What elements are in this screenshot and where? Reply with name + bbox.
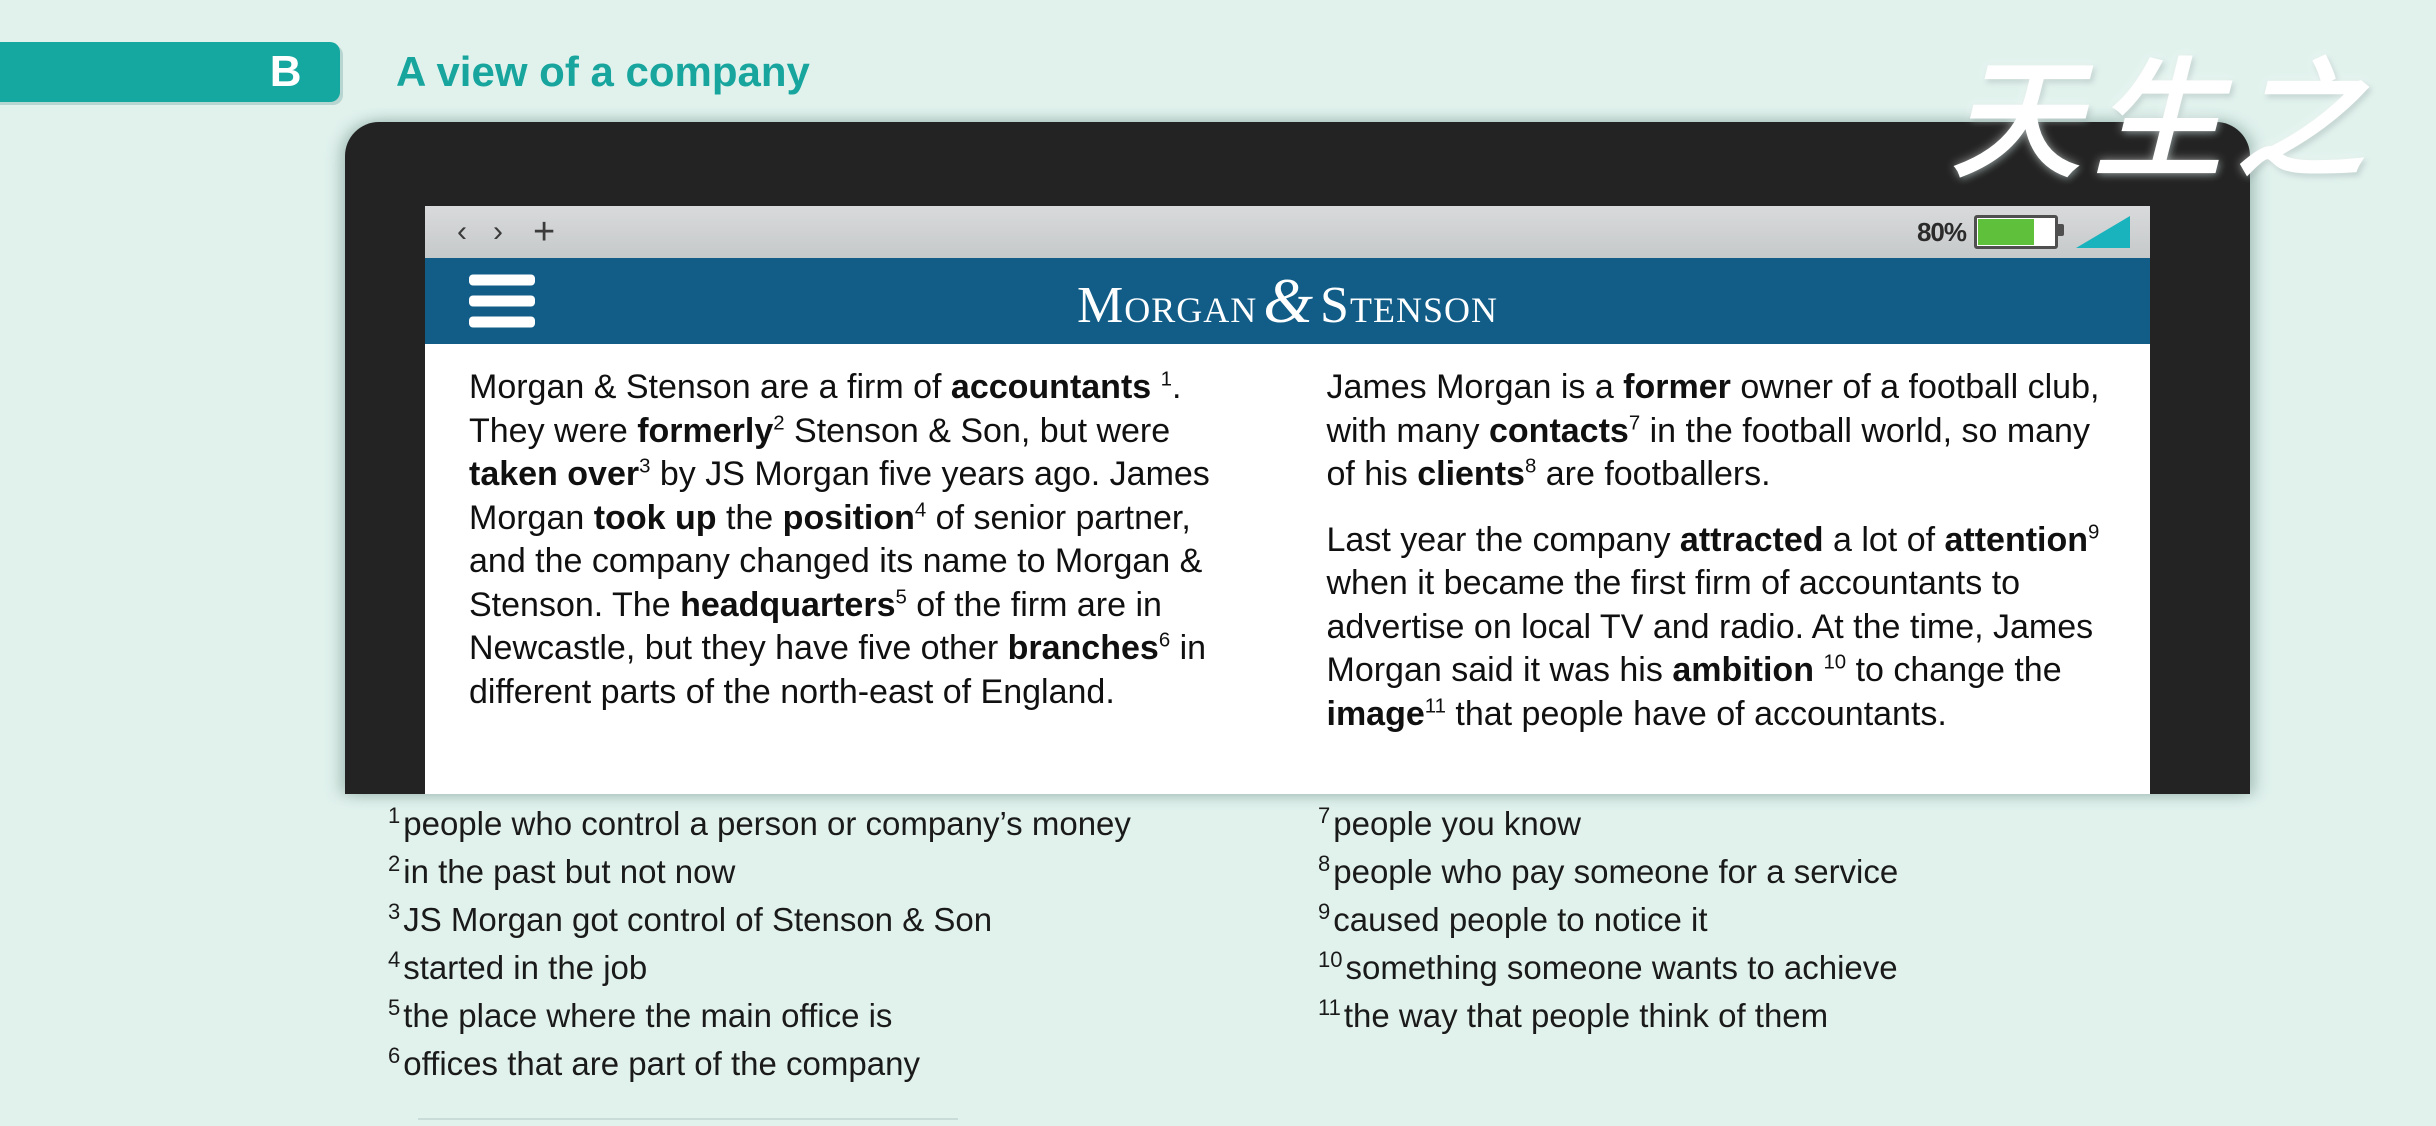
footnote-marker: 1 — [1161, 369, 1172, 391]
keyword: taken over — [469, 455, 639, 493]
footnote-marker: 2 — [773, 412, 784, 434]
site-logo-part1: Morgan — [1077, 277, 1257, 334]
footnote-marker: 8 — [1525, 456, 1536, 478]
keyword: headquarters — [680, 586, 895, 624]
footnote-marker: 4 — [915, 499, 926, 521]
footnote-number: 9 — [1318, 899, 1330, 924]
keyword: clients — [1417, 455, 1525, 493]
footnote-text: the way that people think of them — [1344, 997, 1828, 1034]
footnote-marker: 9 — [2088, 521, 2099, 543]
text-run: Stenson & Son, but were — [785, 412, 1171, 450]
keyword: image — [1327, 695, 1425, 733]
text-run: Morgan & Stenson are a firm of — [469, 368, 951, 406]
footnote-number: 4 — [388, 947, 400, 972]
section-letter-tab: B — [0, 42, 340, 102]
page-title: A view of a company — [396, 42, 810, 102]
site-header: Morgan&Stenson — [425, 258, 2150, 344]
footnote-text: the place where the main office is — [403, 997, 892, 1034]
text-run: to change the — [1846, 651, 2062, 689]
footnote-item: 7people you know — [1318, 800, 2218, 848]
article-column-left: Morgan & Stenson are a firm of accountan… — [469, 366, 1249, 794]
article-paragraph: James Morgan is a former owner of a foot… — [1327, 366, 2107, 497]
footnote-item: 10something someone wants to achieve — [1318, 944, 2218, 992]
footnote-text: in the past but not now — [403, 853, 735, 890]
footnotes-column-left: 1people who control a person or company’… — [388, 800, 1288, 1088]
text-run: that people have of accountants. — [1446, 695, 1947, 733]
forward-icon[interactable]: › — [493, 217, 503, 247]
footnote-number: 3 — [388, 899, 400, 924]
footnotes-column-right: 7people you know8people who pay someone … — [1318, 800, 2218, 1040]
back-icon[interactable]: ‹ — [457, 217, 467, 247]
keyword: attention — [1945, 521, 2089, 559]
battery-percent-label: 80% — [1917, 217, 1966, 248]
battery-cap — [2057, 224, 2064, 236]
keyword: attracted — [1680, 521, 1824, 559]
footnote-text: people who pay someone for a service — [1333, 853, 1898, 890]
article-paragraph: Morgan & Stenson are a firm of accountan… — [469, 366, 1249, 714]
text-run — [1151, 368, 1160, 406]
keyword: branches — [1008, 629, 1159, 667]
keyword: accountants — [951, 368, 1151, 406]
text-run: Last year the company — [1327, 521, 1680, 559]
footnote-marker: 3 — [639, 456, 650, 478]
footnote-marker: 7 — [1629, 412, 1640, 434]
site-logo-ampersand: & — [1257, 265, 1320, 336]
keyword: ambition — [1672, 651, 1814, 689]
footnote-marker: 10 — [1823, 652, 1846, 674]
footnote-text: offices that are part of the company — [403, 1045, 920, 1082]
footnote-item: 4started in the job — [388, 944, 1288, 992]
footnote-number: 2 — [388, 851, 400, 876]
footnote-number: 10 — [1318, 947, 1342, 972]
footnote-number: 11 — [1318, 995, 1341, 1020]
footnote-number: 7 — [1318, 803, 1330, 828]
footnote-item: 2in the past but not now — [388, 848, 1288, 896]
tablet-device: ‹ › + 80% Morgan&Stenson — [345, 122, 2250, 794]
footnote-text: something someone wants to achieve — [1345, 949, 1897, 986]
page-curl-corner — [2076, 216, 2130, 248]
keyword: contacts — [1489, 412, 1629, 450]
footnote-number: 8 — [1318, 851, 1330, 876]
footnote-text: people you know — [1333, 805, 1581, 842]
text-run: the — [717, 499, 783, 537]
battery-icon — [1974, 215, 2058, 249]
footnote-number: 1 — [388, 803, 400, 828]
footnote-item: 8people who pay someone for a service — [1318, 848, 2218, 896]
footnote-number: 5 — [388, 995, 400, 1020]
footnote-text: started in the job — [403, 949, 647, 986]
keyword: formerly — [637, 412, 773, 450]
text-run: James Morgan is a — [1327, 368, 1624, 406]
footnote-marker: 6 — [1159, 630, 1170, 652]
text-run: a lot of — [1824, 521, 1945, 559]
footnote-marker: 5 — [895, 586, 906, 608]
article-paragraph: Last year the company attracted a lot of… — [1327, 519, 2107, 737]
footnote-marker: 11 — [1425, 695, 1446, 717]
footnote-item: 11the way that people think of them — [1318, 992, 2218, 1040]
footnote-number: 6 — [388, 1043, 400, 1068]
site-logo-part2: Stenson — [1320, 277, 1498, 334]
text-run: are footballers. — [1536, 455, 1770, 493]
section-header: B A view of a company — [0, 18, 2436, 88]
tablet-screen: ‹ › + 80% Morgan&Stenson — [425, 206, 2150, 794]
new-tab-icon[interactable]: + — [533, 213, 555, 251]
keyword: former — [1623, 368, 1731, 406]
battery-fill — [1978, 219, 2034, 245]
battery-status: 80% — [1917, 215, 2130, 249]
keyword: position — [783, 499, 915, 537]
keyword: took up — [594, 499, 717, 537]
footnote-text: caused people to notice it — [1333, 901, 1707, 938]
bottom-divider — [418, 1118, 958, 1120]
footnote-text: people who control a person or company’s… — [403, 805, 1131, 842]
footnote-item: 1people who control a person or company’… — [388, 800, 1288, 848]
site-logo: Morgan&Stenson — [425, 269, 2150, 333]
footnote-item: 3JS Morgan got control of Stenson & Son — [388, 896, 1288, 944]
footnote-item: 6offices that are part of the company — [388, 1040, 1288, 1088]
browser-toolbar: ‹ › + 80% — [425, 206, 2150, 258]
section-letter: B — [270, 50, 302, 94]
footnote-text: JS Morgan got control of Stenson & Son — [403, 901, 992, 938]
article-column-right: James Morgan is a former owner of a foot… — [1327, 366, 2107, 794]
footnote-item: 9caused people to notice it — [1318, 896, 2218, 944]
article-body: Morgan & Stenson are a firm of accountan… — [425, 344, 2150, 794]
footnote-item: 5the place where the main office is — [388, 992, 1288, 1040]
